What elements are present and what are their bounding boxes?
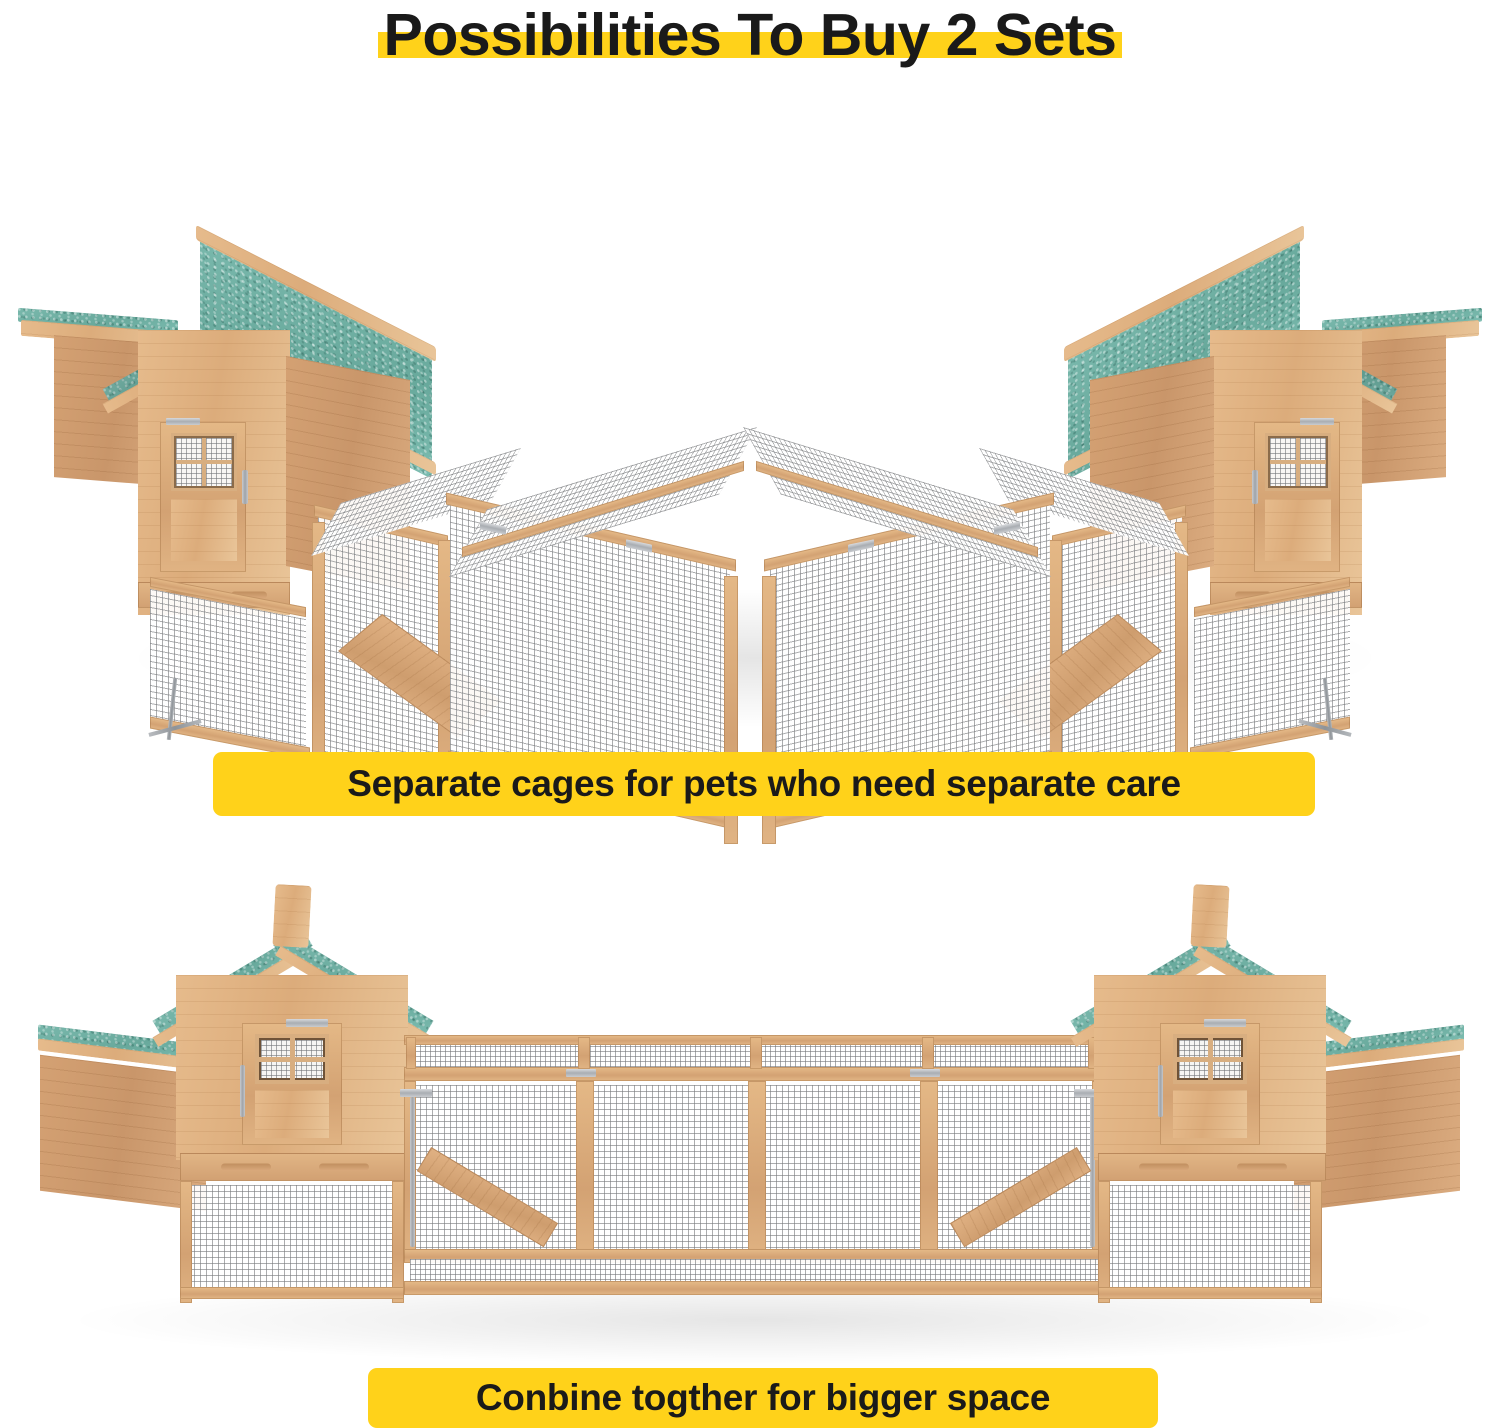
- door-hinge-left-top: [166, 418, 200, 425]
- run-cover-post-2: [750, 1037, 762, 1069]
- door-hinge-left-2: [286, 1019, 328, 1027]
- under-house-mesh-right-2: [1106, 1185, 1314, 1297]
- run-cover-rail-bottom: [404, 1067, 1100, 1081]
- caption-text-separate: Separate cages for pets who need separat…: [347, 763, 1180, 805]
- under-house-base-r: [1098, 1287, 1322, 1299]
- run-door-hinge-1: [400, 1089, 432, 1097]
- roof-ridge-cap-right-2: [1190, 884, 1229, 948]
- caption-banner-combine: Conbine togther for bigger space: [368, 1368, 1158, 1428]
- run-post-c3: [920, 1081, 938, 1261]
- house-body-left-2: [176, 975, 408, 1190]
- pull-out-tray-right-2[interactable]: [1098, 1153, 1326, 1181]
- run-panel-c2: [592, 1085, 748, 1253]
- door-hinge-right-top: [1300, 418, 1334, 425]
- house-door-left-2[interactable]: [242, 1023, 342, 1145]
- roof-ridge-cap-left-2: [272, 884, 311, 948]
- run-post-c1: [576, 1081, 594, 1261]
- run-post-6: [1175, 522, 1188, 784]
- run-cover-post-0: [406, 1037, 416, 1069]
- house-door-right-2[interactable]: [1160, 1023, 1260, 1145]
- run-door-latch-1[interactable]: [410, 1097, 415, 1247]
- under-house-post-r1: [1098, 1181, 1110, 1303]
- run-base-rail: [404, 1281, 1104, 1295]
- run-post-c2: [748, 1081, 766, 1261]
- house-body-right-2: [1094, 975, 1326, 1190]
- run-cover-hinge-c2: [910, 1069, 940, 1077]
- run-post-1: [312, 522, 325, 784]
- pull-out-tray-left-2[interactable]: [180, 1153, 408, 1181]
- under-house-mesh-left-2: [188, 1185, 396, 1297]
- combined-run: [400, 1041, 1100, 1303]
- under-house-base-l: [180, 1287, 404, 1299]
- door-hinge-right-2: [1204, 1019, 1246, 1027]
- under-house-post-l1: [180, 1181, 192, 1303]
- run-cover-post-1: [578, 1037, 590, 1069]
- product-image-combined: [0, 855, 1500, 1355]
- product-image-separate-cages: [0, 118, 1500, 743]
- run-cover-post-3: [922, 1037, 934, 1069]
- page-title: Possibilities To Buy 2 Sets: [384, 0, 1117, 70]
- caption-banner-separate: Separate cages for pets who need separat…: [213, 752, 1315, 816]
- run-panel-c3: [764, 1085, 920, 1253]
- door-latch-right-2[interactable]: [1158, 1065, 1163, 1117]
- page-title-bar: Possibilities To Buy 2 Sets: [0, 0, 1500, 78]
- door-latch-left-2[interactable]: [240, 1065, 245, 1117]
- caption-text-combine: Conbine togther for bigger space: [476, 1377, 1050, 1419]
- under-house-post-r2: [1310, 1181, 1322, 1303]
- run-cover-hinge-c1: [566, 1069, 596, 1077]
